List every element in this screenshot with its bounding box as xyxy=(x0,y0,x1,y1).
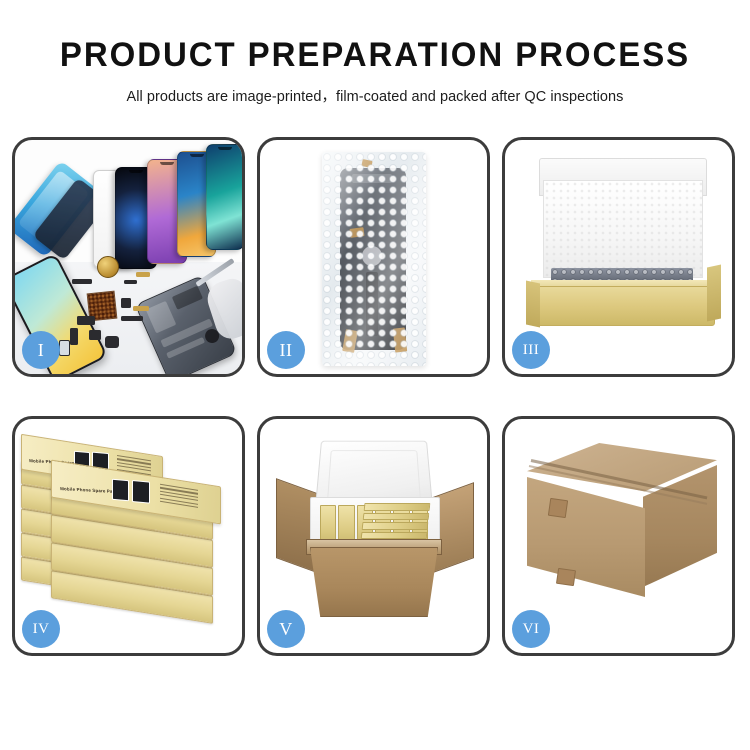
part-button-flex xyxy=(77,316,95,325)
part-gold-bracket xyxy=(136,272,150,277)
part-connector-1 xyxy=(72,279,92,284)
open-carton-with-cooler xyxy=(276,435,476,625)
part-antenna-flex xyxy=(121,316,143,321)
box-label-phone-img-4 xyxy=(132,480,150,504)
box-side-wall xyxy=(707,265,721,322)
process-step-5: V xyxy=(257,416,490,656)
product-preparation-infographic: PRODUCT PREPARATION PROCESS All products… xyxy=(0,0,750,750)
carton-front-wall xyxy=(310,547,438,617)
part-gold-flex xyxy=(133,306,149,311)
page-title: PRODUCT PREPARATION PROCESS xyxy=(11,38,739,74)
process-step-6: VI xyxy=(502,416,735,656)
step-numeral-5: V xyxy=(279,619,293,640)
step-numeral-4: IV xyxy=(33,621,50,638)
process-step-3: III xyxy=(502,137,735,377)
step-badge-4: IV xyxy=(22,610,60,648)
step-numeral-6: VI xyxy=(523,621,540,638)
process-step-grid: I II xyxy=(12,137,738,656)
plastic-sheen xyxy=(322,152,426,366)
process-step-4: Mobile Phone Spare Parts Mobile Phone Sp… xyxy=(12,416,245,656)
open-kraft-box xyxy=(525,158,719,334)
step-numeral-3: III xyxy=(523,342,540,359)
step-numeral-2: II xyxy=(280,340,293,361)
header: PRODUCT PREPARATION PROCESS All products… xyxy=(0,0,750,106)
part-camera-module xyxy=(89,330,101,340)
step-badge-5: V xyxy=(267,610,305,648)
carton-tape-tab-1 xyxy=(548,498,568,518)
bubble-wrap-bag xyxy=(322,152,426,366)
part-screw-plate xyxy=(59,340,70,356)
box-front-wall xyxy=(531,286,715,326)
page-subtitle: All products are image-printed，film-coat… xyxy=(0,85,750,106)
step-badge-6: VI xyxy=(512,610,550,648)
step-badge-3: III xyxy=(512,331,550,369)
foam-liner-back xyxy=(543,180,703,278)
box-label-spec-lines-2 xyxy=(160,484,198,510)
part-connector-2 xyxy=(124,280,137,284)
part-taptic-engine xyxy=(105,336,119,348)
phone-display-4 xyxy=(206,144,242,250)
box-label-text-2: Mobile Phone Spare Parts xyxy=(60,486,119,494)
speaker-module xyxy=(97,256,119,278)
process-step-2: II xyxy=(257,137,490,377)
carton-tape-tab-2 xyxy=(556,568,576,586)
box-stack: Mobile Phone Spare Parts Mobile Phone Sp… xyxy=(21,441,237,637)
part-sim-tray xyxy=(70,328,78,345)
box-label-phone-img-3 xyxy=(112,479,129,502)
step-numeral-1: I xyxy=(38,340,45,361)
process-step-1: I xyxy=(12,137,245,377)
sealed-shipping-carton xyxy=(527,443,717,623)
step-badge-1: I xyxy=(22,331,60,369)
carton-front-face xyxy=(527,477,645,597)
step-badge-2: II xyxy=(267,331,305,369)
part-vibrator xyxy=(121,298,131,308)
